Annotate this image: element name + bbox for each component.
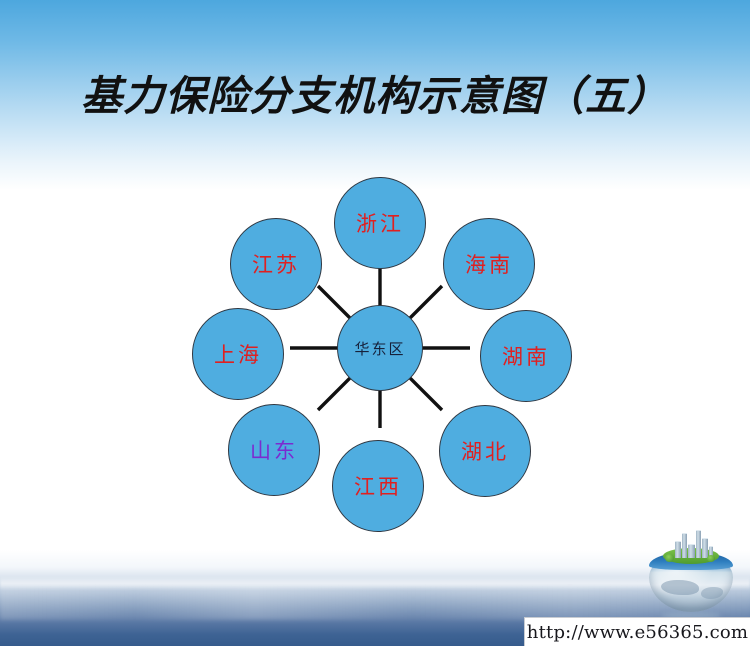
node-zhejiang-label: 浙江 bbox=[356, 208, 404, 238]
page-title: 基力保险分支机构示意图（五） bbox=[0, 62, 750, 122]
node-jiangsu[interactable]: 江苏 bbox=[230, 218, 322, 310]
node-jiangsu-label: 江苏 bbox=[252, 249, 300, 279]
website-url-bar[interactable]: http://www.e56365.com bbox=[524, 617, 750, 646]
node-hunan[interactable]: 湖南 bbox=[480, 310, 572, 402]
node-hubei-label: 湖北 bbox=[461, 436, 509, 466]
city-skyline-icon bbox=[673, 528, 713, 558]
node-hainan[interactable]: 海南 bbox=[443, 218, 535, 310]
node-hubei[interactable]: 湖北 bbox=[439, 405, 531, 497]
node-hainan-label: 海南 bbox=[465, 249, 513, 279]
node-jiangxi-label: 江西 bbox=[354, 471, 402, 501]
slide-canvas: 基力保险分支机构示意图（五） 浙江 海南 湖南 湖北 bbox=[0, 0, 750, 646]
website-url-text: http://www.e56365.com bbox=[527, 622, 748, 643]
node-jiangxi[interactable]: 江西 bbox=[332, 440, 424, 532]
node-hub-label: 华东区 bbox=[354, 338, 405, 359]
node-hub-east-china[interactable]: 华东区 bbox=[337, 305, 423, 391]
node-shandong-label: 山东 bbox=[250, 435, 298, 465]
node-zhejiang[interactable]: 浙江 bbox=[334, 177, 426, 269]
node-shanghai[interactable]: 上海 bbox=[192, 308, 284, 400]
node-shanghai-label: 上海 bbox=[214, 339, 262, 369]
node-hunan-label: 湖南 bbox=[502, 341, 550, 371]
sea-surface-shine bbox=[0, 586, 750, 620]
globe-city-logo bbox=[645, 524, 737, 616]
org-chart-diagram: 浙江 海南 湖南 湖北 江西 山东 上海 江苏 华东区 bbox=[180, 168, 580, 528]
node-shandong[interactable]: 山东 bbox=[228, 404, 320, 496]
tree-icon bbox=[707, 555, 715, 562]
tree-icon bbox=[665, 554, 674, 562]
